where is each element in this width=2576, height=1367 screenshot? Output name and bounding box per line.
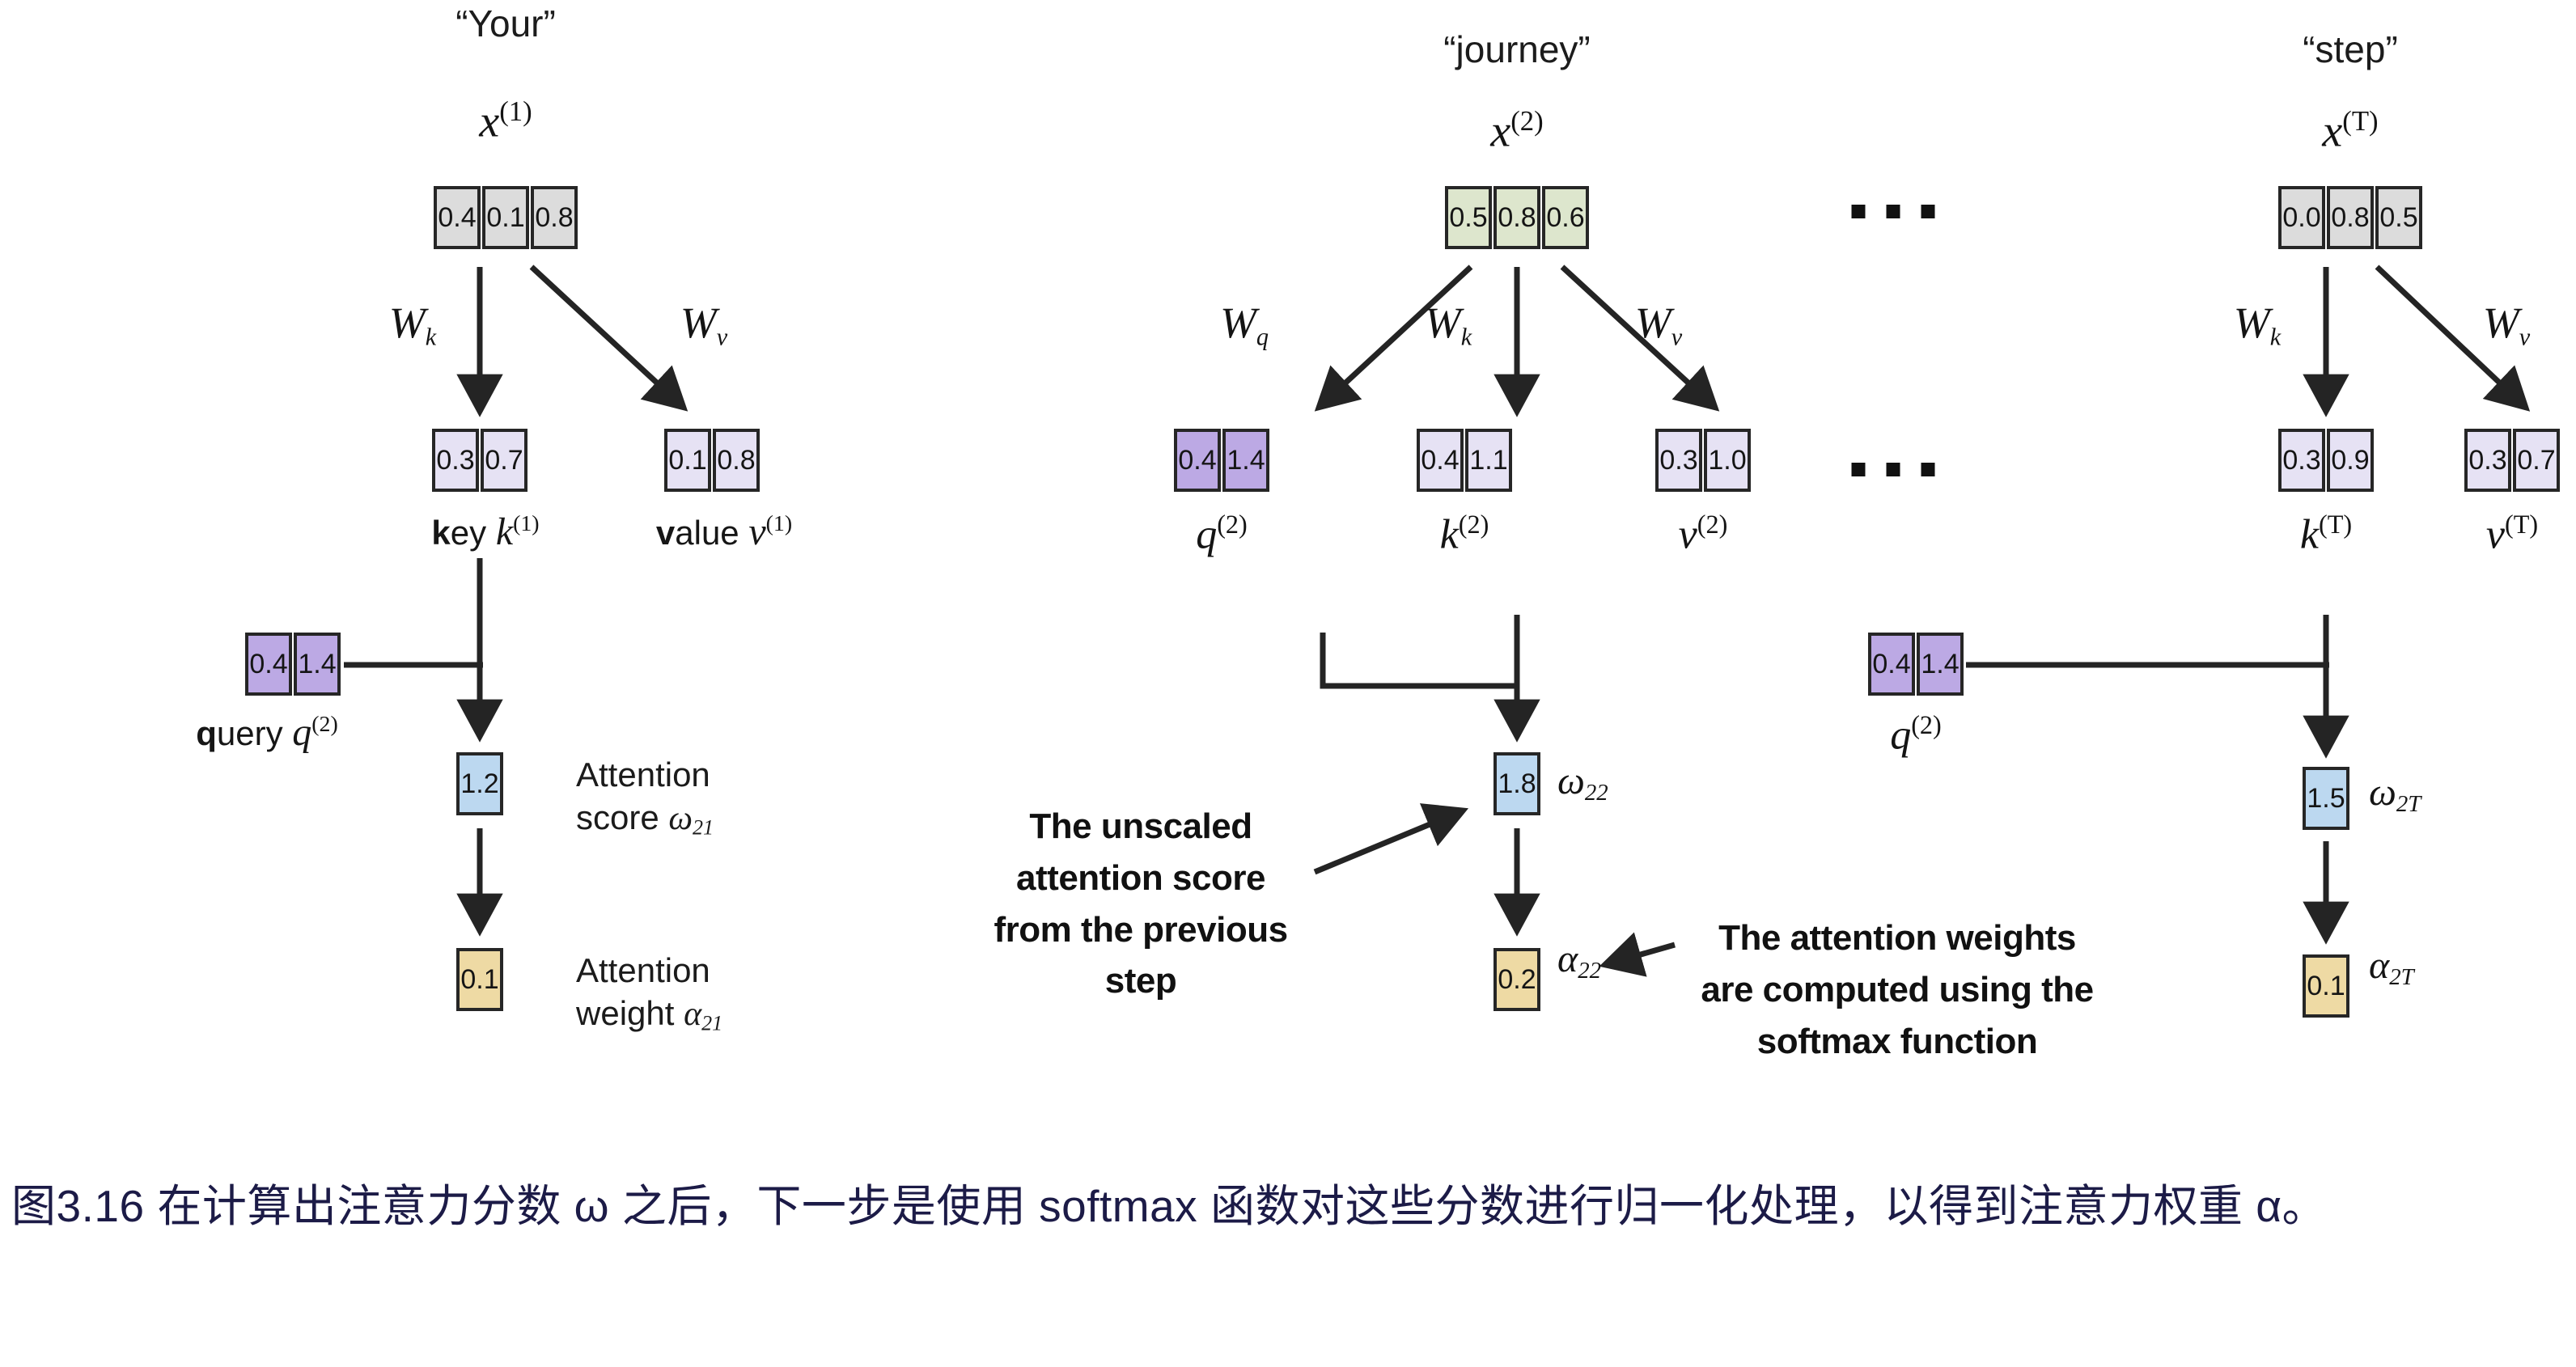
value-vector-vT: 0.3 0.7: [2464, 429, 2560, 492]
value-cell: 0.3: [1655, 429, 1702, 492]
input-cell: 0.8: [1493, 186, 1540, 249]
weight-matrix-wk: Wk: [1425, 298, 1472, 352]
query-cell: 0.4: [1174, 429, 1221, 492]
weight-matrix-wv: Wv: [2483, 298, 2530, 352]
score-symbol-w22: ω22: [1557, 759, 1608, 806]
value-vector-v1: 0.1 0.8: [664, 429, 760, 492]
key-vector-k1: 0.3 0.7: [432, 429, 527, 492]
score-box-w21: 1.2: [456, 752, 503, 815]
weight-value: 0.1: [456, 948, 503, 1011]
weight-value: 0.1: [2303, 954, 2349, 1018]
token-word-journey: “journey”: [1443, 28, 1591, 71]
weight-label-21: Attention weight α21: [576, 950, 722, 1037]
figure-caption: 图3.16 在计算出注意力分数 ω 之后，下一步是使用 softmax 函数对这…: [11, 1174, 2544, 1239]
weight-box-a21: 0.1: [456, 948, 503, 1011]
weight-symbol-a22: α22: [1557, 937, 1601, 984]
weight-matrix-wq: Wq: [1220, 298, 1269, 352]
ellipsis-middle: [1852, 463, 1935, 476]
input-cell: 0.5: [2375, 186, 2422, 249]
input-symbol-xT: x(T): [2322, 105, 2378, 158]
key-cell: 0.9: [2327, 429, 2374, 492]
score-label-21: Attention score ω21: [576, 754, 714, 841]
weight-matrix-wk: Wk: [2234, 298, 2281, 352]
input-vector-x1: 0.4 0.1 0.8: [434, 186, 578, 249]
figure-canvas: “Your” x(1) 0.4 0.1 0.8 Wk Wv 0.3 0.7 ke…: [0, 0, 2576, 1367]
input-cell: 0.0: [2278, 186, 2325, 249]
key-cell: 0.3: [432, 429, 479, 492]
input-cell: 0.8: [2327, 186, 2374, 249]
key-symbol-kT: k(T): [2300, 510, 2352, 558]
weight-matrix-wv: Wv: [1635, 298, 1682, 352]
query-vector-q2: 0.4 1.4: [1174, 429, 1269, 492]
input-vector-xT: 0.0 0.8 0.5: [2278, 186, 2422, 249]
input-cell: 0.1: [482, 186, 529, 249]
value-symbol-vT: v(T): [2486, 510, 2538, 558]
query-symbol-q2: q(2): [1196, 510, 1248, 558]
key-vector-kT: 0.3 0.9: [2278, 429, 2374, 492]
query-cell: 1.4: [1222, 429, 1269, 492]
query-cell: 1.4: [1917, 633, 1964, 696]
value-cell: 0.7: [2513, 429, 2560, 492]
value-symbol-v2: v(2): [1679, 510, 1728, 558]
value-label: value v(1): [656, 510, 792, 554]
value-cell: 0.1: [664, 429, 711, 492]
weight-matrix-wv: Wv: [680, 298, 727, 352]
score-box-w2T: 1.5: [2303, 767, 2349, 830]
score-value: 1.5: [2303, 767, 2349, 830]
score-symbol-w2T: ω2T: [2369, 770, 2421, 818]
query-symbol-q2-col3: q(2): [1890, 710, 1942, 759]
token-word-your: “Your”: [455, 2, 556, 45]
value-cell: 0.3: [2464, 429, 2511, 492]
weight-matrix-wk: Wk: [389, 298, 436, 352]
query-label: query q(2): [196, 710, 337, 755]
input-symbol-x1: x(1): [479, 95, 532, 148]
input-vector-x2: 0.5 0.8 0.6: [1445, 186, 1589, 249]
key-cell: 1.1: [1465, 429, 1512, 492]
weight-box-a22: 0.2: [1493, 948, 1540, 1011]
score-value: 1.8: [1493, 752, 1540, 815]
input-cell: 0.4: [434, 186, 481, 249]
value-cell: 0.8: [713, 429, 760, 492]
key-symbol-k2: k(2): [1440, 510, 1489, 558]
input-cell: 0.5: [1445, 186, 1492, 249]
weight-symbol-a2T: α2T: [2369, 943, 2414, 991]
connector-layer: [0, 0, 2576, 1367]
input-cell: 0.6: [1542, 186, 1589, 249]
weight-value: 0.2: [1493, 948, 1540, 1011]
key-label: key k(1): [431, 510, 539, 554]
query-vector-q2-col3: 0.4 1.4: [1868, 633, 1964, 696]
annotation-unscaled-score: The unscaled attention score from the pr…: [994, 801, 1287, 1007]
input-symbol-x2: x(2): [1490, 105, 1543, 158]
key-vector-k2: 0.4 1.1: [1417, 429, 1512, 492]
value-cell: 1.0: [1704, 429, 1751, 492]
score-box-w22: 1.8: [1493, 752, 1540, 815]
weight-box-a2T: 0.1: [2303, 954, 2349, 1018]
query-vector-q2-col1: 0.4 1.4: [245, 633, 341, 696]
value-vector-v2: 0.3 1.0: [1655, 429, 1751, 492]
key-cell: 0.3: [2278, 429, 2325, 492]
input-cell: 0.8: [531, 186, 578, 249]
score-value: 1.2: [456, 752, 503, 815]
query-cell: 0.4: [245, 633, 292, 696]
token-word-step: “step”: [2303, 28, 2398, 71]
key-cell: 0.4: [1417, 429, 1464, 492]
ellipsis-top: [1852, 205, 1935, 218]
query-cell: 1.4: [294, 633, 341, 696]
key-cell: 0.7: [481, 429, 527, 492]
query-cell: 0.4: [1868, 633, 1915, 696]
annotation-softmax: The attention weights are computed using…: [1701, 912, 2093, 1067]
